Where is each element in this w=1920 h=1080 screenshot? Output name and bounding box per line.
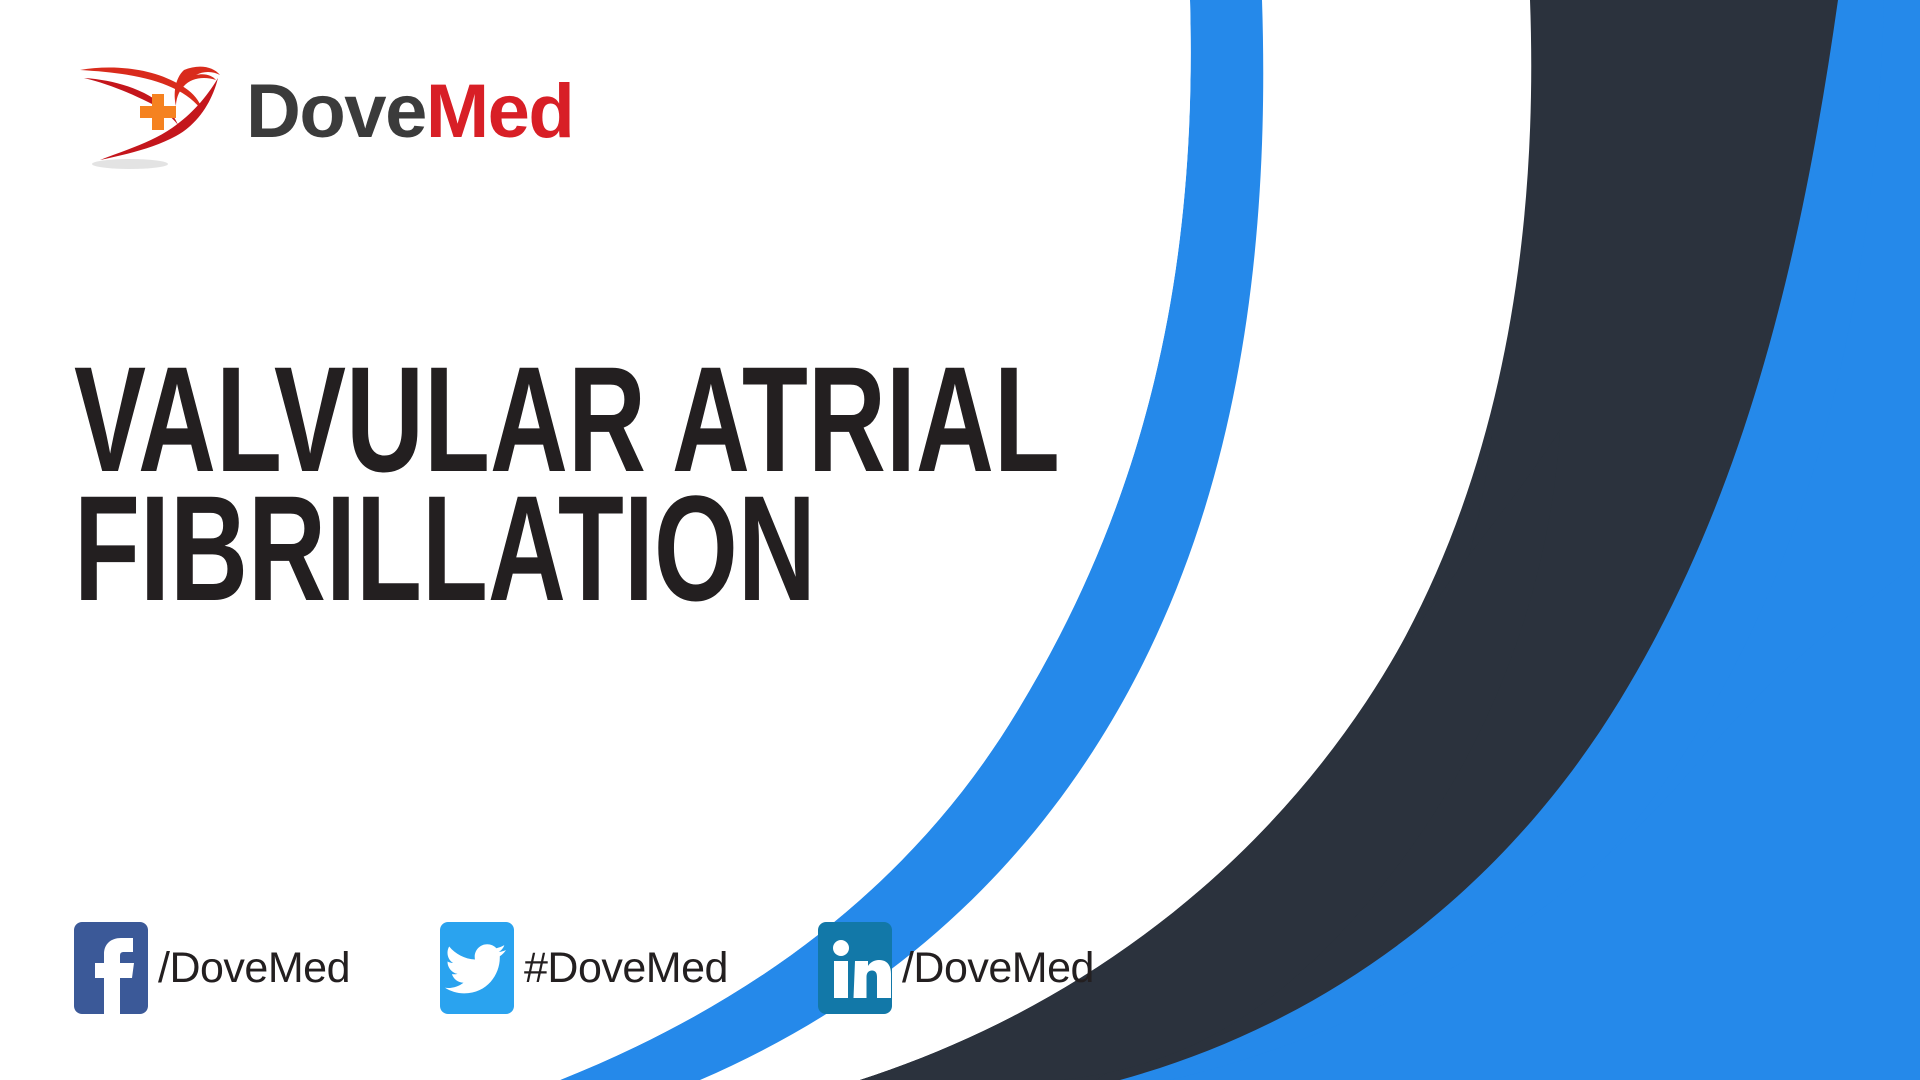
- facebook-icon[interactable]: [74, 922, 148, 1014]
- logo-word-med: Med: [426, 69, 574, 154]
- linkedin-icon[interactable]: [818, 922, 892, 1014]
- linkedin-handle: /DoveMed: [902, 944, 1094, 993]
- dovemed-logo[interactable]: DoveMed: [72, 48, 573, 176]
- social-links: /DoveMed #DoveMed /DoveMed: [74, 922, 1094, 1014]
- logo-wordmark: DoveMed: [246, 74, 573, 150]
- wave-blue-bottom-corner: [1170, 560, 1920, 1080]
- slide-canvas: DoveMed VALVULAR ATRIAL FIBRILLATION /Do…: [0, 0, 1920, 1080]
- logo-word-dove: Dove: [246, 69, 426, 154]
- facebook-handle: /DoveMed: [158, 944, 350, 993]
- social-link-twitter[interactable]: #DoveMed: [440, 922, 728, 1014]
- twitter-handle: #DoveMed: [524, 944, 728, 993]
- social-link-linkedin[interactable]: /DoveMed: [818, 922, 1094, 1014]
- wave-blue-outer: [1080, 0, 1920, 1080]
- dove-logo-icon: [72, 48, 252, 176]
- page-title-line-2: FIBRILLATION: [74, 484, 765, 613]
- wave-blue-accent-stripe: [1120, 0, 1884, 1080]
- page-title: VALVULAR ATRIAL FIBRILLATION: [74, 355, 1034, 613]
- social-link-facebook[interactable]: /DoveMed: [74, 922, 350, 1014]
- twitter-icon[interactable]: [440, 922, 514, 1014]
- dove-shadow: [92, 159, 168, 169]
